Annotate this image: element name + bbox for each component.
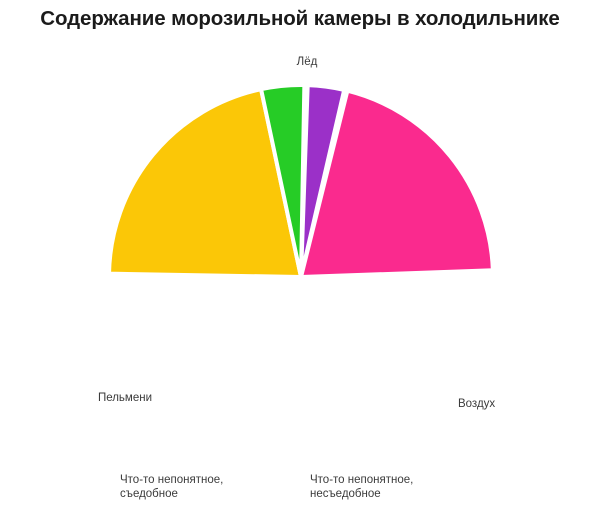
pie-label-air: Воздух [458,397,588,411]
pie-label-unknown-inedible: Что-то непонятное, несъедобное [310,473,500,501]
pie-label-unknown-edible: Что-то непонятное, съедобное [120,473,300,501]
pie-chart-figure: Содержание морозильной камеры в холодиль… [0,0,600,530]
pie-label-ice: Лёд [247,55,367,69]
pie-slices-group [109,85,493,277]
pie-label-dumplings: Пельмени [22,391,152,405]
pie-chart-graphic [0,0,600,530]
